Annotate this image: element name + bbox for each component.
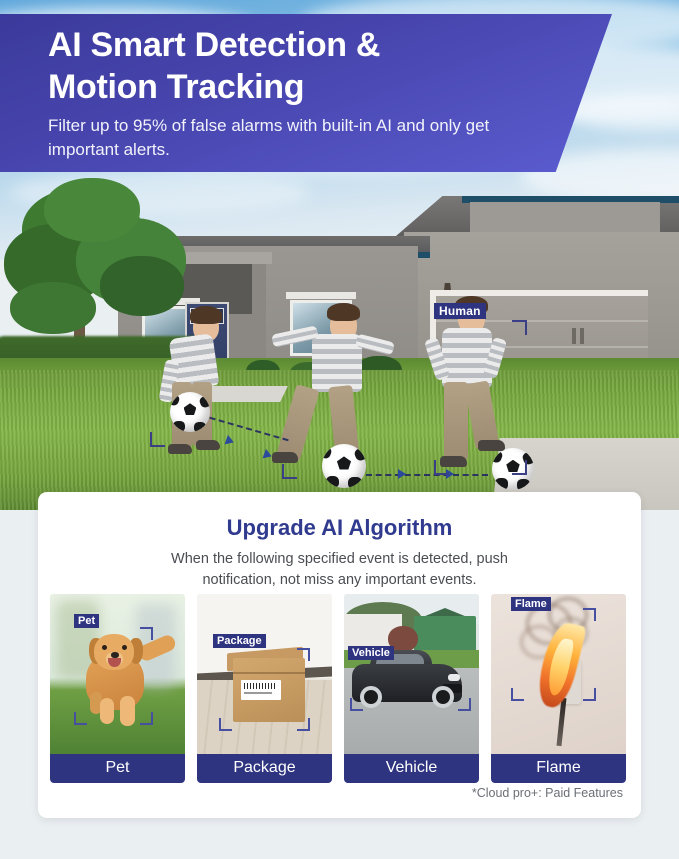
tile-bracket-bl (74, 712, 87, 725)
upgrade-card: Upgrade AI Algorithm When the following … (38, 492, 641, 818)
detection-bracket-br (512, 460, 527, 475)
marketing-graphic: Human AI Smart Detection & Motion Tracki… (0, 0, 679, 859)
tile-bracket-br (140, 712, 153, 725)
garage-handle (572, 328, 576, 344)
paid-features-note: *Cloud pro+: Paid Features (472, 786, 623, 800)
tile-pet-thumbnail: Pet (50, 594, 185, 754)
card-title: Upgrade AI Algorithm (38, 515, 641, 541)
tracking-arrow (398, 469, 406, 479)
tile-flame-caption: Flame (491, 754, 626, 783)
tile-vehicle-thumbnail: Vehicle (344, 594, 479, 754)
tile-flame-thumbnail: Flame (491, 594, 626, 754)
detection-label-human: Human (434, 303, 486, 319)
feature-tiles: Pet Pet Package (50, 594, 626, 783)
detection-bracket-bl (282, 464, 297, 479)
detection-bracket-bl (434, 460, 449, 475)
card-subtitle: When the following specified event is de… (140, 549, 540, 591)
tile-bracket-br (297, 718, 310, 731)
tile-bracket-bl (350, 698, 363, 711)
tile-vehicle-caption: Vehicle (344, 754, 479, 783)
tree (4, 178, 190, 328)
hero-banner: AI Smart Detection & Motion Tracking Fil… (0, 14, 612, 172)
banner-heading-line1: AI Smart Detection & (48, 24, 612, 66)
tile-vehicle[interactable]: Vehicle Vehicle (344, 594, 479, 783)
detection-bracket-tr (512, 320, 527, 335)
window-ledge (286, 292, 356, 299)
garage-handle (580, 328, 584, 344)
tile-bracket-bl (219, 718, 232, 731)
tile-package[interactable]: Package Package (197, 594, 332, 783)
tile-package-thumbnail: Package (197, 594, 332, 754)
banner-heading-line2: Motion Tracking (48, 66, 612, 108)
tile-bracket-tr (583, 608, 596, 621)
soccer-ball (170, 392, 210, 432)
tile-bracket-br (458, 698, 471, 711)
tile-bracket-br (583, 688, 596, 701)
tile-package-overlay-label: Package (213, 634, 266, 648)
soccer-ball (322, 444, 366, 488)
tile-vehicle-overlay-label: Vehicle (348, 646, 394, 660)
tile-pet-overlay-label: Pet (74, 614, 99, 628)
tile-pet-caption: Pet (50, 754, 185, 783)
tile-package-caption: Package (197, 754, 332, 783)
detection-bracket-bl (150, 432, 165, 447)
tile-bracket-tr (297, 648, 310, 661)
tracking-path (366, 474, 488, 476)
tile-flame[interactable]: Flame Flame (491, 594, 626, 783)
banner-subtitle: Filter up to 95% of false alarms with bu… (48, 114, 548, 161)
tile-bracket-tr (140, 627, 153, 640)
tile-flame-overlay-label: Flame (511, 597, 551, 611)
tile-bracket-bl (511, 688, 524, 701)
tile-pet[interactable]: Pet Pet (50, 594, 185, 783)
